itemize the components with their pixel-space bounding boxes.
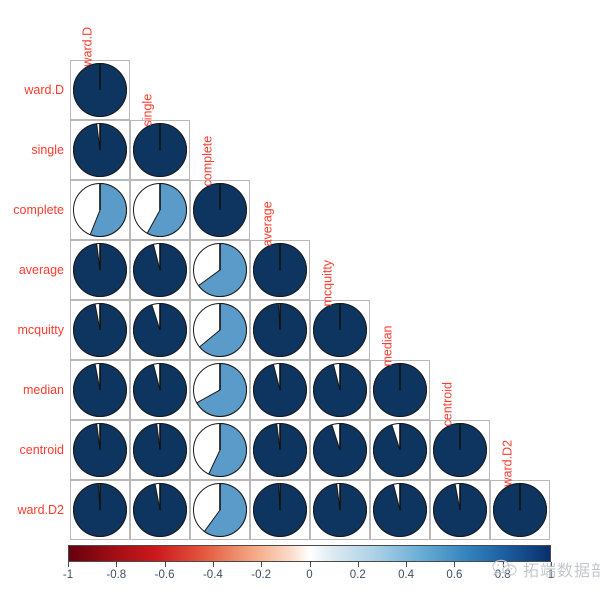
- matrix-cell: [250, 240, 310, 300]
- matrix-cell: [70, 180, 130, 240]
- pie-glyph: [191, 421, 249, 479]
- colorbar-tick: [454, 562, 455, 567]
- matrix-cell: [490, 480, 550, 540]
- matrix-cell: [130, 240, 190, 300]
- colorbar-tick: [213, 562, 214, 567]
- colorbar-tick-label: -1: [46, 570, 90, 582]
- pie-glyph: [71, 421, 129, 479]
- pie-glyph: [251, 421, 309, 479]
- pie-glyph: [191, 481, 249, 539]
- col-label-centroid: centroid: [442, 382, 455, 426]
- pie-glyph: [251, 301, 309, 359]
- watermark-text: 拓端数据部落: [523, 557, 600, 581]
- matrix-cell: [190, 240, 250, 300]
- matrix-cell: [310, 480, 370, 540]
- pie-glyph: [431, 481, 489, 539]
- pie-glyph: [431, 421, 489, 479]
- colorbar-tick-label: -0.6: [143, 570, 187, 582]
- colorbar-tick-label: -0.8: [94, 570, 138, 582]
- pie-glyph: [371, 421, 429, 479]
- matrix-cell: [130, 420, 190, 480]
- colorbar-tick: [116, 562, 117, 567]
- colorbar-tick: [406, 562, 407, 567]
- pie-glyph: [131, 481, 189, 539]
- pie-glyph: [71, 61, 129, 119]
- row-label-average: average: [19, 264, 64, 277]
- pie-glyph: [131, 361, 189, 419]
- matrix-cell: [130, 480, 190, 540]
- matrix-cell: [370, 360, 430, 420]
- matrix-cell: [70, 120, 130, 180]
- col-label-ward-d2: ward.D2: [502, 440, 515, 487]
- row-label-ward-d: ward.D: [24, 84, 64, 97]
- pie-glyph: [131, 181, 189, 239]
- colorbar-gradient: [68, 545, 551, 562]
- matrix-cell: [370, 420, 430, 480]
- row-label-ward-d2: ward.D2: [17, 504, 64, 517]
- matrix-cell: [70, 60, 130, 120]
- col-label-single: single: [142, 94, 155, 127]
- colorbar-tick: [165, 562, 166, 567]
- row-label-mcquitty: mcquitty: [17, 324, 64, 337]
- pie-glyph: [191, 301, 249, 359]
- pie-glyph: [371, 481, 429, 539]
- matrix-cell: [250, 360, 310, 420]
- matrix-cell: [70, 480, 130, 540]
- matrix-cell: [130, 180, 190, 240]
- col-label-ward-d: ward.D: [82, 27, 95, 67]
- matrix-cell: [130, 360, 190, 420]
- col-label-mcquitty: mcquitty: [322, 260, 335, 307]
- pie-glyph: [311, 301, 369, 359]
- colorbar-tick: [358, 562, 359, 567]
- colorbar-tick: [310, 562, 311, 567]
- colorbar-tick-label: 0: [288, 570, 332, 582]
- pie-glyph: [71, 241, 129, 299]
- pie-glyph: [71, 181, 129, 239]
- pie-glyph: [311, 421, 369, 479]
- col-label-average: average: [262, 201, 275, 246]
- pie-glyph: [491, 481, 549, 539]
- pie-glyph: [131, 121, 189, 179]
- colorbar-legend: -1-0.8-0.6-0.4-0.200.20.40.60.81: [68, 545, 551, 584]
- matrix-cell: [70, 240, 130, 300]
- pie-glyph: [311, 481, 369, 539]
- pie-glyph: [191, 361, 249, 419]
- matrix-cell: [130, 120, 190, 180]
- pie-glyph: [251, 241, 309, 299]
- matrix-cell: [190, 360, 250, 420]
- colorbar-tick: [261, 562, 262, 567]
- pie-glyph: [71, 301, 129, 359]
- correlation-pie-matrix-plot: ward.Dsinglecompleteaveragemcquittymedia…: [0, 0, 600, 600]
- matrix-cell: [430, 480, 490, 540]
- wechat-icon: [492, 558, 518, 578]
- colorbar-tick-label: 0.4: [384, 570, 428, 582]
- pie-glyph: [191, 181, 249, 239]
- pie-glyph: [371, 361, 429, 419]
- colorbar-tick-label: -0.2: [239, 570, 283, 582]
- pie-glyph: [131, 301, 189, 359]
- row-label-single: single: [31, 144, 64, 157]
- matrix-cell: [250, 420, 310, 480]
- matrix-cell: [70, 420, 130, 480]
- matrix-cell: [70, 360, 130, 420]
- matrix-cell: [310, 300, 370, 360]
- colorbar-tick-label: 0.2: [336, 570, 380, 582]
- matrix-cell: [310, 360, 370, 420]
- pie-glyph: [131, 421, 189, 479]
- pie-glyph: [71, 481, 129, 539]
- pie-glyph: [71, 121, 129, 179]
- pie-glyph: [131, 241, 189, 299]
- colorbar-tick-label: -0.4: [191, 570, 235, 582]
- pie-glyph: [71, 361, 129, 419]
- pie-glyph: [251, 481, 309, 539]
- matrix-cell: [250, 480, 310, 540]
- col-label-complete: complete: [202, 136, 215, 187]
- matrix-cell: [70, 300, 130, 360]
- matrix-cell: [310, 420, 370, 480]
- matrix-cell: [190, 300, 250, 360]
- matrix-cell: [190, 480, 250, 540]
- matrix-cell: [190, 420, 250, 480]
- row-label-median: median: [23, 384, 64, 397]
- matrix-cell: [250, 300, 310, 360]
- matrix-cell: [130, 300, 190, 360]
- pie-glyph: [191, 241, 249, 299]
- pie-glyph: [251, 361, 309, 419]
- row-label-centroid: centroid: [20, 444, 64, 457]
- matrix-cell: [430, 420, 490, 480]
- col-label-median: median: [382, 326, 395, 367]
- pie-glyph: [311, 361, 369, 419]
- colorbar-tick-label: 0.6: [432, 570, 476, 582]
- matrix-cell: [370, 480, 430, 540]
- colorbar-tick: [68, 562, 69, 567]
- matrix-cell: [190, 180, 250, 240]
- row-label-complete: complete: [13, 204, 64, 217]
